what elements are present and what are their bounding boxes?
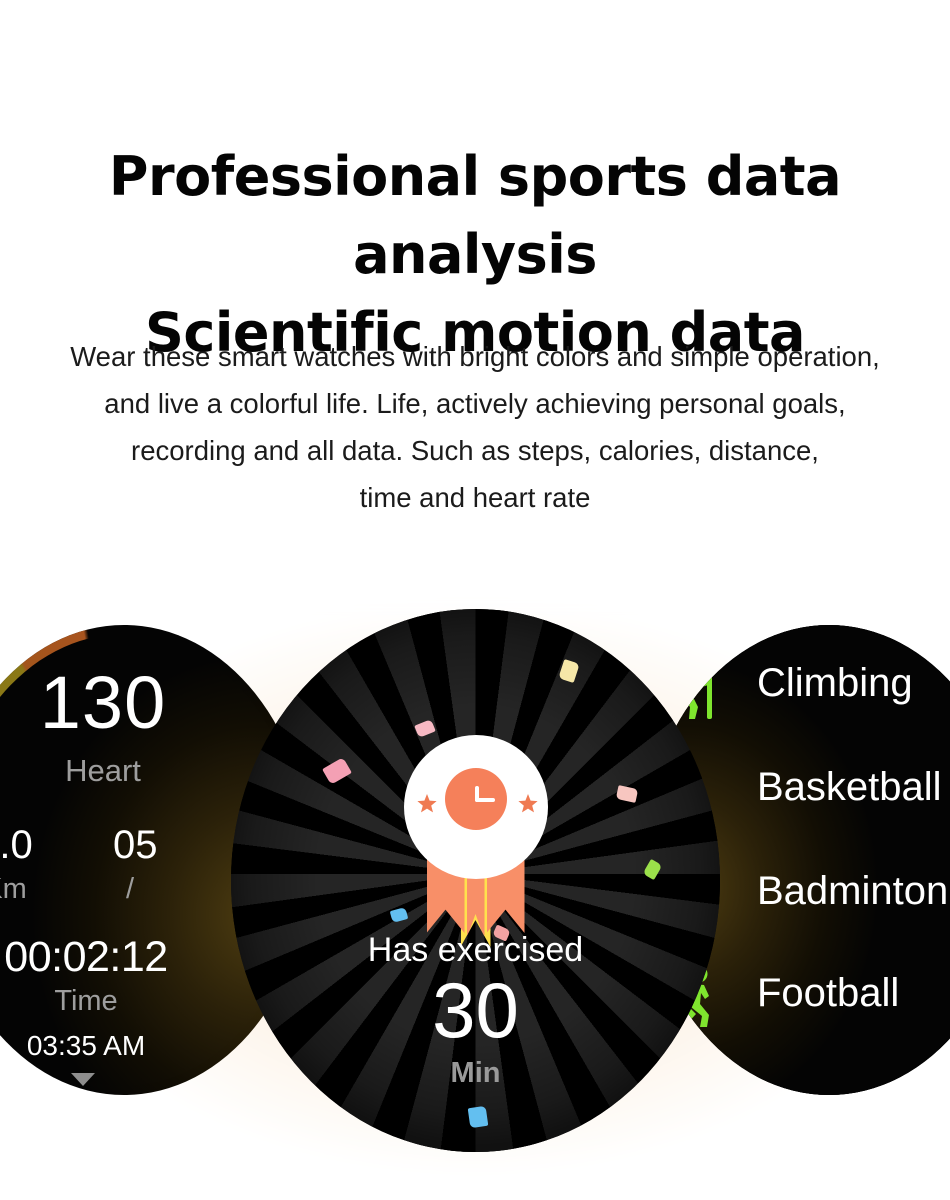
headline-line-1: Professional sports data analysis: [0, 138, 950, 294]
clock-hand-minute: [475, 798, 495, 802]
sport-label: Basketball: [757, 765, 942, 810]
pace-value: 05: [113, 823, 223, 868]
pace-label: /: [126, 873, 236, 906]
description-line-2: and live a colorful life. Life, actively…: [0, 380, 950, 427]
description-line-3: recording and all data. Such as steps, c…: [0, 427, 950, 474]
exercise-caption: Has exercised: [231, 931, 720, 970]
confetti-piece: [468, 1106, 489, 1128]
watch-center-achievement: Has exercised 30 Min: [231, 609, 720, 1152]
sport-label: Football: [757, 971, 899, 1016]
sport-label: Climbing: [757, 661, 913, 706]
clock-time: 03:35 AM: [0, 1030, 234, 1062]
exercise-value: 30: [231, 969, 720, 1051]
distance-value: 0.0: [0, 823, 60, 868]
chevron-down-icon[interactable]: [71, 1073, 95, 1086]
heart-rate-value: 130: [0, 666, 268, 740]
duration-label: Time: [0, 985, 234, 1018]
description-line-4: time and heart rate: [0, 474, 950, 521]
watch-showcase: 130 Heart 0.0 Km 05 / 00:02:12 Time 03:3…: [0, 540, 950, 1174]
duration-value: 00:02:12: [0, 933, 234, 982]
distance-label: Km: [0, 873, 60, 906]
exercise-unit: Min: [231, 1057, 720, 1090]
sport-label: Badminton: [757, 869, 948, 914]
clock-icon: [445, 768, 507, 830]
description-line-1: Wear these smart watches with bright col…: [0, 333, 950, 380]
heart-rate-label: Heart: [0, 753, 268, 789]
description-paragraph: Wear these smart watches with bright col…: [0, 333, 950, 521]
